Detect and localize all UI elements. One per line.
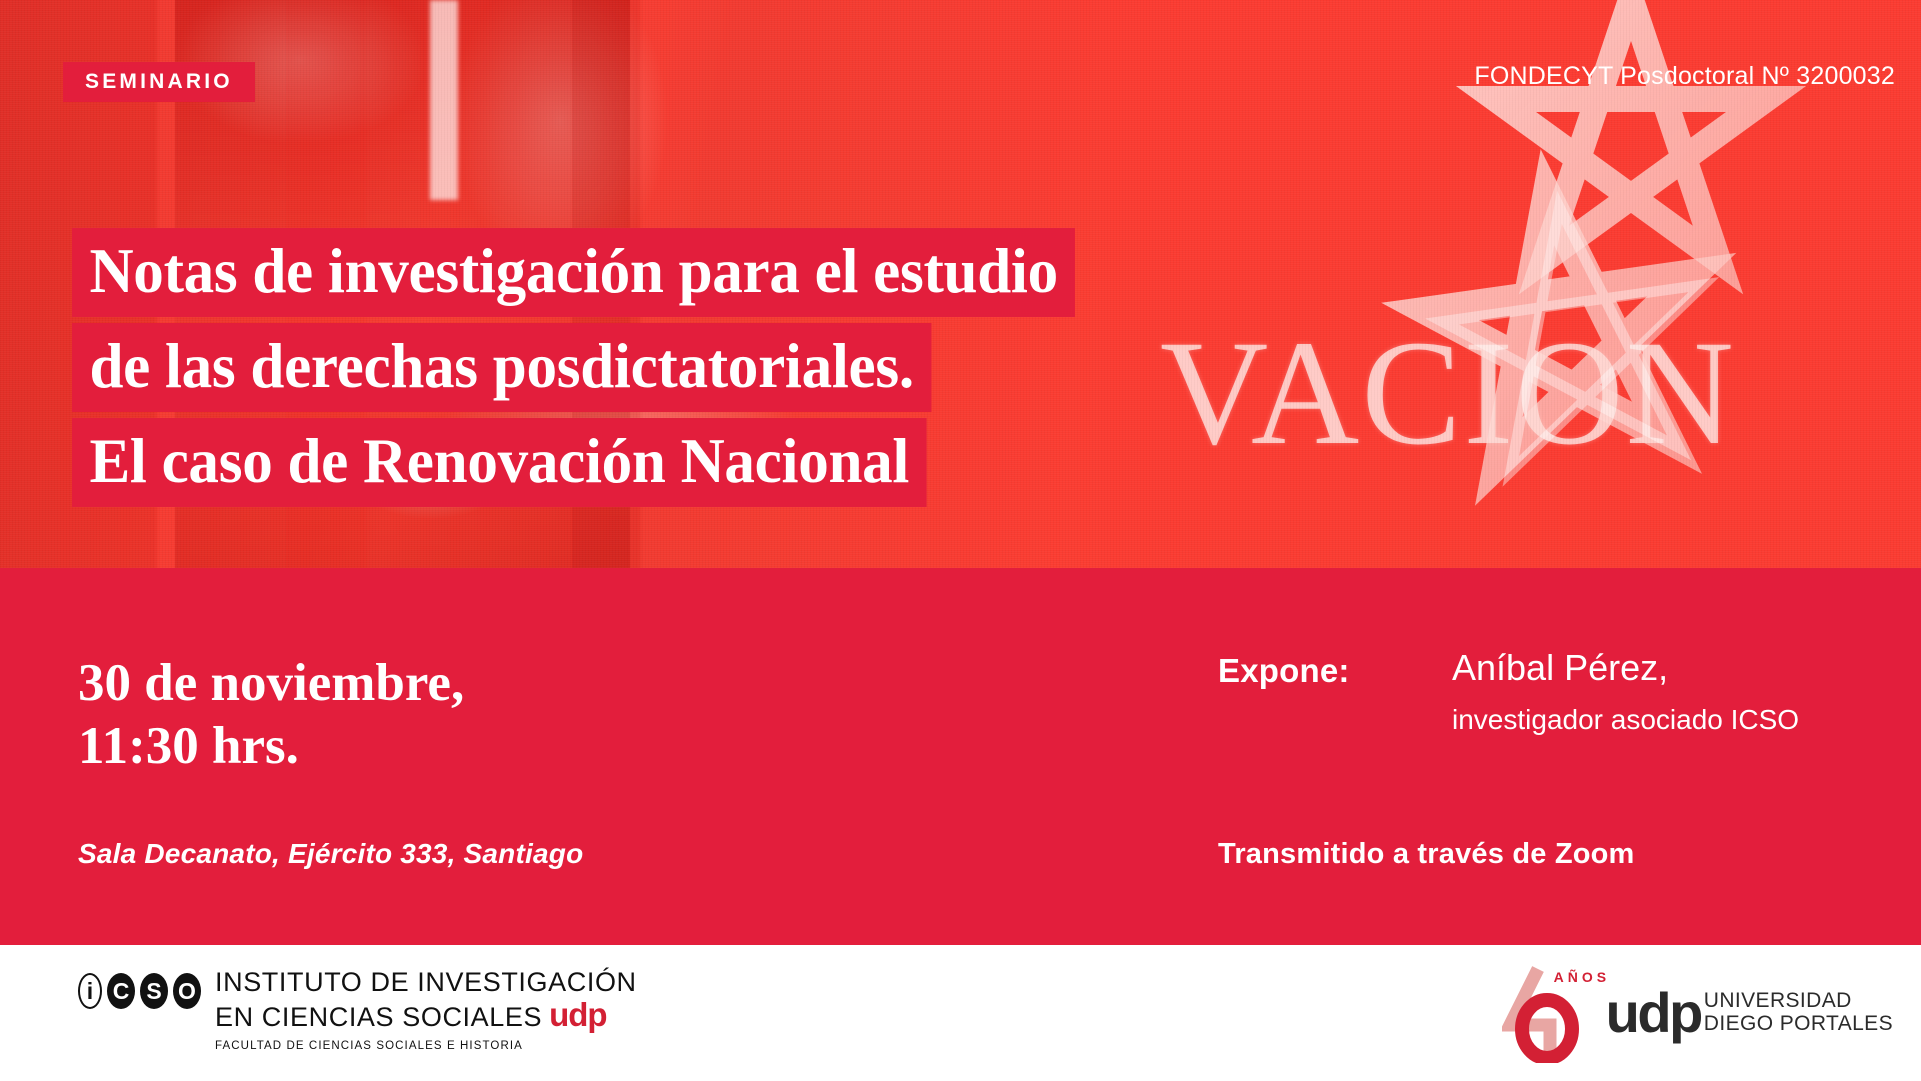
footer-logos: i C S O INSTITUTO DE INVESTIGACIÓN EN CI… [0, 945, 1921, 1081]
seminario-badge: SEMINARIO [63, 62, 255, 102]
icso-line-2-row: EN CIENCIAS SOCIALES udp [215, 997, 637, 1034]
udp-subtitle-line-2: DIEGO PORTALES [1704, 1013, 1893, 1036]
udp-wordmark: udp [1606, 991, 1701, 1036]
icso-udp-mark: udp [549, 997, 606, 1034]
udp-anos-label: AÑOS [1554, 969, 1610, 985]
icso-line-1: INSTITUTO DE INVESTIGACIÓN [215, 967, 637, 997]
udp-40-anos-icon: AÑOS [1502, 963, 1610, 1063]
icso-letter-i: i [78, 973, 102, 1009]
icso-line-2: EN CIENCIAS SOCIALES [215, 1002, 542, 1032]
details-band: 30 de noviembre, 11:30 hrs. Sala Decanat… [0, 568, 1921, 945]
icso-letter-c: C [107, 973, 135, 1009]
poster-title: Notas de investigación para el estudio d… [72, 228, 1106, 513]
broadcast-note: Transmitido a través de Zoom [1218, 838, 1635, 871]
icso-letter-o: O [173, 973, 201, 1009]
icso-letter-s: S [140, 973, 168, 1009]
fondecyt-grant-label: FONDECYT Posdoctoral Nº 3200032 [1474, 62, 1895, 91]
poster-root: VACION [0, 0, 1921, 1081]
speaker-name: Aníbal Pérez, [1452, 650, 1668, 686]
udp-anniversary-logo: AÑOS udp UNIVERSIDAD DIEGO PORTALES [1502, 963, 1893, 1063]
event-venue: Sala Decanato, Ejército 333, Santiago [78, 838, 583, 870]
title-line-3: El caso de Renovación Nacional [72, 418, 927, 507]
udp-subtitle: UNIVERSIDAD DIEGO PORTALES [1704, 990, 1893, 1035]
icso-faculty-line: FACULTAD DE CIENCIAS SOCIALES E HISTORIA [215, 1040, 637, 1052]
speaker-label: Expone: [1218, 652, 1350, 690]
icso-monogram-icon: i C S O [78, 973, 201, 1009]
hero-photo-highlight-stripe [430, 0, 458, 200]
speaker-affiliation: investigador asociado ICSO [1452, 706, 1799, 734]
icso-wordmark: INSTITUTO DE INVESTIGACIÓN EN CIENCIAS S… [215, 967, 637, 1052]
event-date-time: 30 de noviembre, 11:30 hrs. [78, 652, 464, 777]
title-line-2: de las derechas posdictatoriales. [72, 323, 931, 412]
udp-subtitle-line-1: UNIVERSIDAD [1704, 990, 1893, 1013]
icso-logo: i C S O INSTITUTO DE INVESTIGACIÓN EN CI… [78, 967, 637, 1052]
title-line-1: Notas de investigación para el estudio [72, 228, 1075, 317]
